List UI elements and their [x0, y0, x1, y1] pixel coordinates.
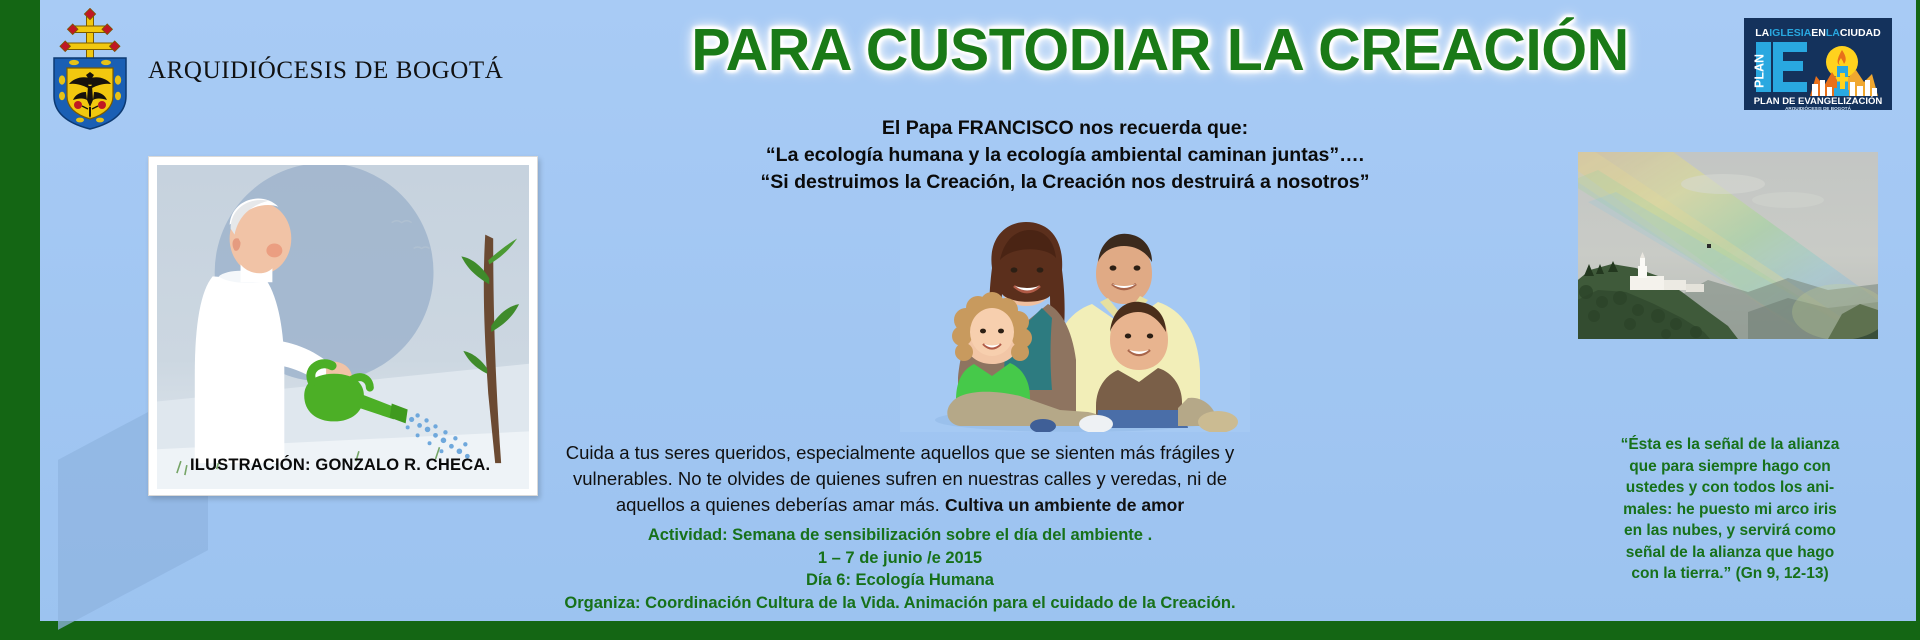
frame-right-bar: [1916, 0, 1920, 640]
scripture-line-7: con la tierra.” (Gn 9, 12-13): [1570, 563, 1890, 585]
body-line-1: Cuida a tus seres queridos, especialment…: [566, 442, 1234, 463]
scripture-line-3: ustedes y con todos los ani-: [1570, 477, 1890, 499]
rainbow-over-monserrate-photo: [1578, 152, 1878, 339]
scripture-line-1: “Ésta es la señal de la alianza: [1570, 434, 1890, 456]
scripture-quote: “Ésta es la señal de la alianza que para…: [1570, 434, 1890, 585]
body-paragraph: Cuida a tus seres queridos, especialment…: [560, 440, 1240, 518]
pope-quote-line-2: “Si destruimos la Creación, la Creación …: [600, 169, 1530, 196]
diocese-name: ARQUIDIÓCESIS DE BOGOTÁ: [148, 57, 503, 85]
scripture-line-5: en las nubes, y servirá como: [1570, 520, 1890, 542]
scripture-line-6: señal de la alianza que hago: [1570, 542, 1890, 564]
page-title: PARA CUSTODIAR LA CREACIÓN: [560, 18, 1760, 82]
pope-quote-intro: El Papa FRANCISCO nos recuerda que:: [600, 115, 1530, 142]
diocese-name-text: ARQUIDIÓCESIS DE BOGOTÁ: [148, 57, 503, 84]
family-photo: [900, 200, 1250, 432]
pope-watering-plant-illustration: [148, 156, 538, 496]
illustration-credit: ILUSTRACIÓN: GONZALO R. CHECA.: [190, 456, 490, 475]
poster-canvas: ARQUIDIÓCESIS DE BOGOTÁ PARA CUSTODIAR L…: [0, 0, 1920, 640]
activity-line-4: Organiza: Coordinación Cultura de la Vid…: [540, 592, 1260, 615]
activity-line-3: Día 6: Ecología Humana: [540, 569, 1260, 592]
frame-bottom-bar: [0, 621, 1920, 640]
activity-block: Actividad: Semana de sensibilización sob…: [540, 524, 1260, 614]
scripture-line-2: que para siempre hago con: [1570, 456, 1890, 478]
body-emphasis: Cultiva un ambiente de amor: [945, 495, 1184, 515]
pope-quote-line-1: “La ecología humana y la ecología ambien…: [600, 142, 1530, 169]
frame-left-bar: [0, 0, 40, 640]
svg-text:LAIGLESIAENLACIUDAD: LAIGLESIAENLACIUDAD: [1755, 27, 1881, 39]
body-line-2: vulnerables. No te olvides de quienes su…: [573, 468, 1227, 489]
activity-line-1: Actividad: Semana de sensibilización sob…: [540, 524, 1260, 547]
body-line-3: aquellos a quienes deberías amar más.: [616, 494, 940, 515]
svg-text:PLAN: PLAN: [1753, 54, 1767, 88]
coat-of-arms-icon: [42, 8, 138, 130]
pope-quote-block: El Papa FRANCISCO nos recuerda que: “La …: [600, 115, 1530, 196]
plan-e-logo-icon: LAIGLESIAENLACIUDAD PLAN: [1744, 18, 1892, 110]
scripture-line-4: males: he puesto mi arco iris: [1570, 499, 1890, 521]
activity-line-2: 1 – 7 de junio /e 2015: [540, 547, 1260, 570]
